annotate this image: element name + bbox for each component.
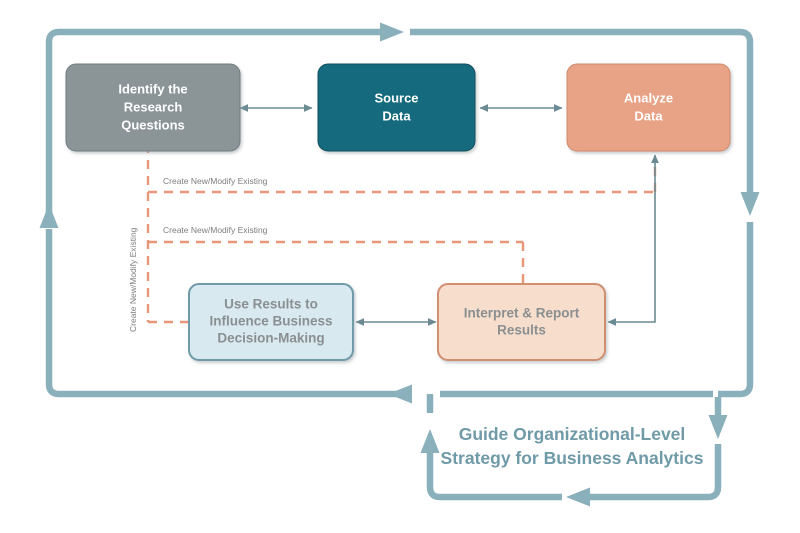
box-interpret-line2: Results <box>497 323 546 338</box>
box-analyze-line1: Analyze <box>624 90 673 105</box>
connector-interpret-analyze <box>608 155 655 322</box>
box-identify-research-questions[interactable]: Identify the Research Questions <box>66 64 240 151</box>
flowchart-svg: Identify the Research Questions Source D… <box>0 0 800 533</box>
outcome-arrowhead-down <box>709 415 728 439</box>
loop-arrowhead-bottom-left <box>388 385 412 404</box>
box-use-results-line3: Decision-Making <box>217 331 324 346</box>
box-interpret-report[interactable]: Interpret & Report Results <box>438 284 605 360</box>
outer-loop-bottom <box>388 385 713 404</box>
box-use-results-line2: Influence Business <box>209 314 332 329</box>
box-source-line2: Data <box>382 108 411 123</box>
box-analyze-data[interactable]: Analyze Data <box>567 64 730 151</box>
loop-arrowhead-right <box>741 192 760 216</box>
box-identify-line1: Identify the <box>118 81 187 96</box>
dashed-label-lower: Create New/Modify Existing <box>163 225 268 235</box>
outcome-title-line1: Guide Organizational-Level <box>459 424 686 444</box>
box-interpret-line1: Interpret & Report <box>464 306 580 321</box>
box-identify-line2: Research <box>124 99 183 114</box>
outcome-arrowhead-bottom <box>566 488 590 507</box>
box-identify-line3: Questions <box>121 117 185 132</box>
box-use-results[interactable]: Use Results to Influence Business Decisi… <box>189 284 353 360</box>
flowchart-diagram: Identify the Research Questions Source D… <box>0 0 800 533</box>
box-source-line1: Source <box>374 90 418 105</box>
loop-arrowhead-left-up <box>40 204 59 228</box>
box-use-results-line1: Use Results to <box>224 297 318 312</box>
outcome-arrowhead-up <box>421 429 440 453</box>
outcome-title-line2: Strategy for Business Analytics <box>441 448 704 468</box>
box-analyze-line2: Data <box>634 108 663 123</box>
dashed-label-vertical: Create New/Modify Existing <box>128 227 138 332</box>
box-source-data[interactable]: Source Data <box>318 64 475 151</box>
dashed-label-upper: Create New/Modify Existing <box>163 176 268 186</box>
loop-arrowhead-top <box>380 23 404 42</box>
